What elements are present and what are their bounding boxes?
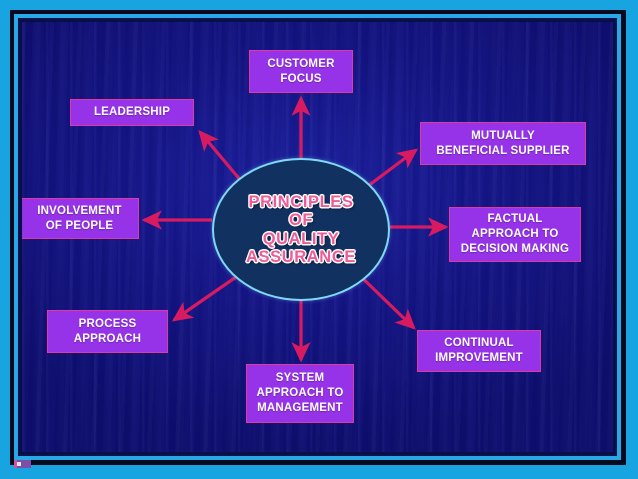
principle-label-line: LEADERSHIP bbox=[94, 105, 170, 120]
principle-label-line: INVOLVEMENT bbox=[37, 204, 121, 219]
principle-label-line: DECISION MAKING bbox=[461, 242, 569, 257]
center-circle: PRINCIPLES OF QUALITY ASSURANCE bbox=[212, 158, 390, 301]
principle-label-line: APPROACH bbox=[74, 332, 141, 347]
principle-label-line: APPROACH TO bbox=[472, 227, 559, 242]
principle-label-line: CONTINUAL bbox=[444, 336, 514, 351]
center-line-3: QUALITY bbox=[263, 230, 340, 248]
principle-box-involvement-of-people[interactable]: INVOLVEMENT OF PEOPLE bbox=[22, 198, 139, 239]
principle-label-line: FOCUS bbox=[280, 72, 321, 87]
principle-box-mutually-beneficial-supplier[interactable]: MUTUALLY BENEFICIAL SUPPLIER bbox=[420, 122, 586, 165]
principle-box-continual-improvement[interactable]: CONTINUAL IMPROVEMENT bbox=[417, 330, 541, 372]
principle-label-line: OF PEOPLE bbox=[46, 219, 114, 234]
center-line-1: PRINCIPLES bbox=[248, 193, 353, 211]
principle-label-line: PROCESS bbox=[79, 317, 137, 332]
principle-label-line: FACTUAL bbox=[487, 212, 542, 227]
corner-artifact-dot bbox=[17, 462, 21, 466]
principle-label-line: APPROACH TO bbox=[257, 386, 344, 401]
principle-box-customer-focus[interactable]: CUSTOMER FOCUS bbox=[249, 50, 353, 93]
principle-label-line: BENEFICIAL SUPPLIER bbox=[436, 144, 569, 159]
principle-label-line: MUTUALLY bbox=[471, 129, 535, 144]
slide-canvas: PRINCIPLES OF QUALITY ASSURANCE CUSTOMER… bbox=[0, 0, 638, 479]
principle-box-leadership[interactable]: LEADERSHIP bbox=[70, 99, 194, 126]
principle-box-system-approach-to-management[interactable]: SYSTEM APPROACH TO MANAGEMENT bbox=[246, 364, 354, 423]
center-line-2: OF bbox=[289, 211, 313, 229]
center-line-4: ASSURANCE bbox=[246, 248, 356, 266]
principle-label-line: MANAGEMENT bbox=[257, 401, 343, 416]
principle-label-line: IMPROVEMENT bbox=[435, 351, 523, 366]
principle-label-line: CUSTOMER bbox=[267, 57, 334, 72]
principle-box-factual-approach-to-decision-making[interactable]: FACTUAL APPROACH TO DECISION MAKING bbox=[449, 207, 581, 262]
principle-box-process-approach[interactable]: PROCESS APPROACH bbox=[47, 310, 168, 353]
principle-label-line: SYSTEM bbox=[276, 371, 325, 386]
diagram-area: PRINCIPLES OF QUALITY ASSURANCE CUSTOMER… bbox=[22, 22, 613, 452]
